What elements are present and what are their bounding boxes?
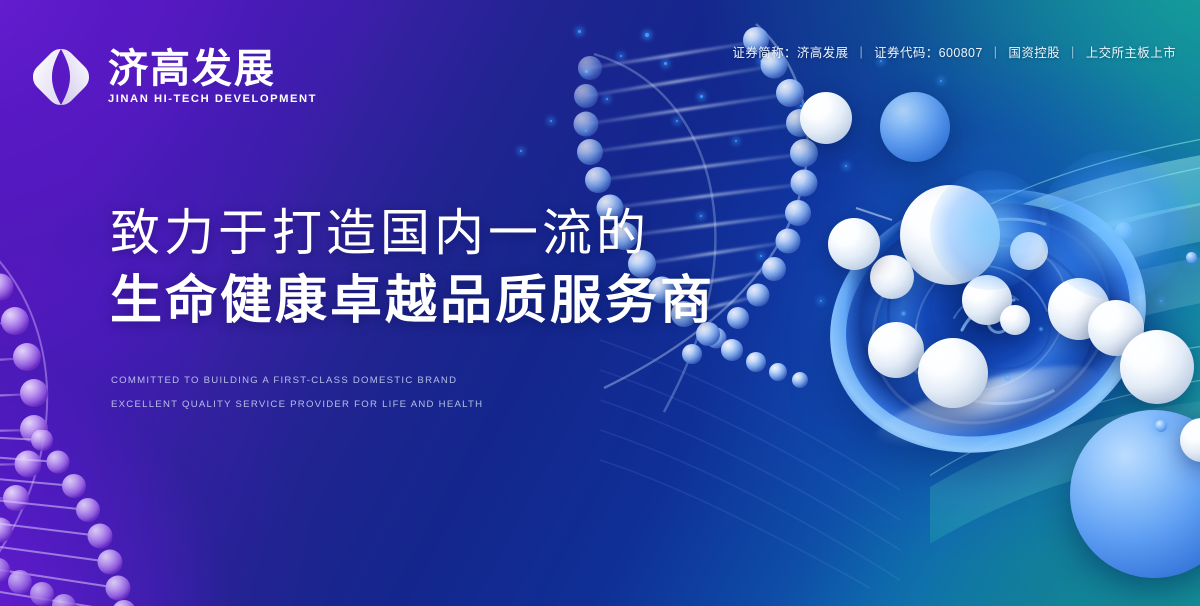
purple-dna-helix-lower — [0, 430, 230, 606]
hero-banner: 济高发展 JINAN HI-TECH DEVELOPMENT 证券简称：济高发展… — [0, 0, 1200, 606]
logo-company-name-cn: 济高发展 — [108, 49, 317, 89]
separator-1: | — [859, 45, 863, 59]
logo-company-name-en: JINAN HI-TECH DEVELOPMENT — [108, 94, 317, 105]
hero-headline: 致力于打造国内一流的 生命健康卓越品质服务商 — [110, 205, 715, 331]
sphere-center-white-small — [1000, 305, 1030, 335]
sphere-blue-top — [880, 92, 950, 162]
bead-blue-c — [1155, 420, 1167, 432]
brand-logo[interactable]: 济高发展 JINAN HI-TECH DEVELOPMENT — [30, 46, 317, 108]
stock-info-bar: 证券简称：济高发展 | 证券代码：600807 | 国资控股 | 上交所主板上市 — [732, 42, 1176, 61]
subtitle-line-1: COMMITTED TO BUILDING A FIRST-CLASS DOME… — [111, 369, 483, 393]
stock-short-name: 证券简称：济高发展 — [732, 42, 848, 61]
separator-3: | — [1071, 45, 1075, 59]
stock-code: 证券代码：600807 — [874, 42, 983, 61]
sphere-white-left — [828, 218, 880, 270]
sphere-white-lower-a — [868, 322, 924, 378]
bead-blue-b — [1186, 252, 1197, 263]
headline-line-1: 致力于打造国内一流的 — [110, 205, 715, 262]
state-owned-badge: 国资控股 — [1008, 42, 1060, 61]
separator-2: | — [994, 45, 998, 59]
sphere-white-lower-b — [918, 338, 988, 408]
jinan-hi-tech-diamond-logo-icon — [30, 46, 92, 108]
sphere-white-right-c — [1120, 330, 1194, 404]
exchange-listing: 上交所主板上市 — [1086, 42, 1176, 61]
hero-subtitle: COMMITTED TO BUILDING A FIRST-CLASS DOME… — [111, 369, 483, 416]
headline-line-2: 生命健康卓越品质服务商 — [110, 272, 715, 331]
sphere-small-white-a — [870, 255, 914, 299]
subtitle-line-2: EXCELLENT QUALITY SERVICE PROVIDER FOR L… — [111, 393, 483, 417]
sphere-white-top — [800, 92, 852, 144]
